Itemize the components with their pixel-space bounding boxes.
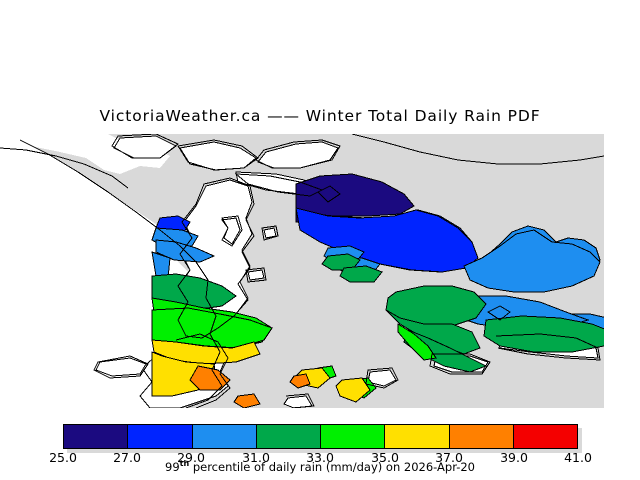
colorbar-segment-29-31 [193,425,257,448]
colorbar-segment-37-39 [450,425,514,448]
colorbar-segments [63,424,578,449]
figure-root: VictoriaWeather.ca —— Winter Total Daily… [0,0,640,480]
map-graphic [0,134,604,408]
colorbar-segment-35-37 [385,425,449,448]
colorbar-segment-39-41 [514,425,577,448]
caption-prefix: 99 [165,460,180,474]
figure-title: VictoriaWeather.ca —— Winter Total Daily… [0,107,640,125]
colorbar-segment-25-27 [64,425,128,448]
colorbar-segment-31-33 [257,425,321,448]
colorbar-caption: 99th percentile of daily rain (mm/day) o… [0,459,640,474]
caption-superscript: th [180,459,190,468]
colorbar-segment-33-35 [321,425,385,448]
colorbar-segment-27-29 [128,425,192,448]
caption-suffix: percentile of daily rain (mm/day) on 202… [189,460,475,474]
colorbar [63,424,578,449]
map-panel [0,134,604,408]
